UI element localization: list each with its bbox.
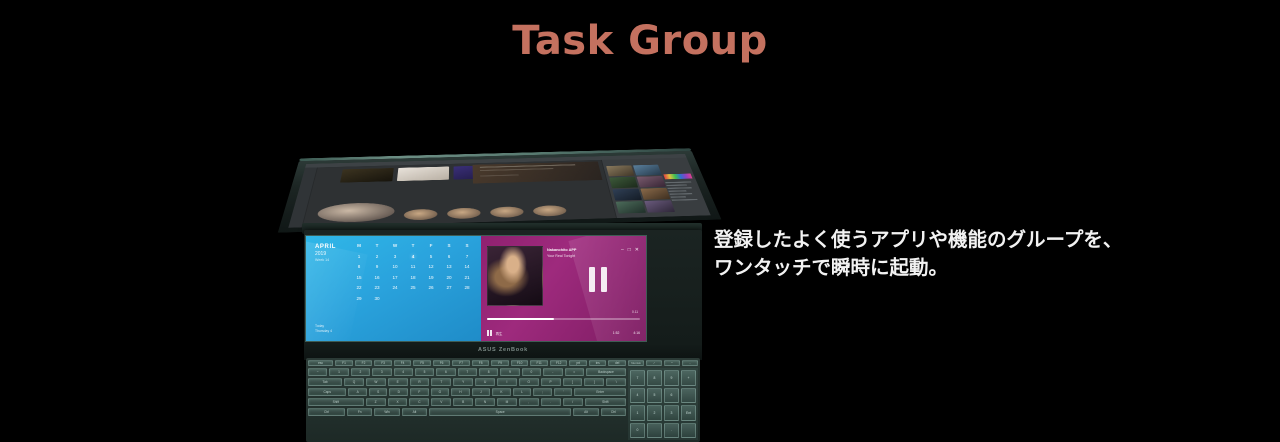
- thumbnail[interactable]: [612, 189, 642, 201]
- key[interactable]: -: [682, 360, 698, 366]
- maximize-icon[interactable]: □: [628, 248, 631, 253]
- key[interactable]: F: [410, 388, 429, 396]
- calendar-day[interactable]: 8: [350, 264, 368, 269]
- key[interactable]: F3: [374, 360, 392, 366]
- key-alt-right[interactable]: Alt: [573, 408, 598, 416]
- key[interactable]: NumLk: [628, 360, 644, 366]
- key[interactable]: F9: [491, 360, 509, 366]
- calendar-day[interactable]: 25: [404, 285, 422, 290]
- key[interactable]: ;: [533, 388, 552, 396]
- key[interactable]: X: [388, 398, 408, 406]
- numpad-key[interactable]: +: [681, 370, 696, 386]
- key[interactable]: 7: [458, 368, 477, 376]
- key[interactable]: 8: [479, 368, 498, 376]
- key[interactable]: F5: [413, 360, 431, 366]
- key[interactable]: H: [451, 388, 470, 396]
- hero-banner: [473, 161, 603, 183]
- feature-description: 登録したよく使うアプリや機能のグループを、 ワンタッチで瞬時に起動。: [714, 226, 1144, 281]
- calendar-weekday: T: [368, 243, 386, 248]
- media-card[interactable]: [340, 168, 394, 183]
- calendar-day[interactable]: 17: [386, 275, 404, 280]
- calendar-day[interactable]: 21: [458, 275, 476, 280]
- numpad-key[interactable]: 5: [647, 388, 662, 404]
- key[interactable]: [: [563, 378, 583, 386]
- key[interactable]: F10: [511, 360, 529, 366]
- key[interactable]: N: [475, 398, 495, 406]
- key-shift-left[interactable]: Shift: [308, 398, 364, 406]
- key[interactable]: ': [554, 388, 573, 396]
- laptop-device: APRIL 2019 Week 14 M T W T F S S 1 2 3 4…: [276, 104, 724, 438]
- calendar-day[interactable]: 3: [386, 254, 404, 259]
- key[interactable]: ins: [589, 360, 607, 366]
- calendar-month-label: APRIL: [315, 244, 336, 250]
- mini-pause-icon[interactable]: [487, 330, 492, 336]
- key[interactable]: G: [431, 388, 450, 396]
- calendar-day[interactable]: 13: [440, 264, 458, 269]
- key-ctrl-right[interactable]: Ctrl: [601, 408, 626, 416]
- key[interactable]: 9: [500, 368, 519, 376]
- brand-logo: ASUS ZenBook: [304, 347, 702, 353]
- key[interactable]: Q: [344, 378, 364, 386]
- calendar-day[interactable]: 5: [422, 254, 440, 259]
- key[interactable]: 0: [522, 368, 541, 376]
- keyboard-main-block[interactable]: esc F1 F2 F3 F4 F5 F6 F7 F8 F9 F10 F11 F…: [308, 360, 626, 440]
- calendar-weekday: S: [440, 243, 458, 248]
- dish-thumbnail[interactable]: [403, 209, 437, 221]
- key[interactable]: S: [369, 388, 388, 396]
- key[interactable]: 3: [372, 368, 391, 376]
- key[interactable]: =: [565, 368, 584, 376]
- dish-thumbnail[interactable]: [447, 208, 481, 220]
- numpad-key[interactable]: 7: [630, 370, 645, 386]
- numpad-key[interactable]: Ent: [681, 405, 696, 421]
- key[interactable]: 4: [394, 368, 413, 376]
- key[interactable]: L: [513, 388, 532, 396]
- calendar-day[interactable]: 20: [440, 275, 458, 280]
- calendar-day[interactable]: 26: [422, 285, 440, 290]
- music-player-app[interactable]: Nakanohito APP Your Real Tonight – □ ✕ 0…: [481, 236, 646, 341]
- page-title: Task Group: [0, 18, 1280, 64]
- laptop-lid: [278, 150, 722, 232]
- calendar-day[interactable]: 12: [422, 264, 440, 269]
- calendar-day[interactable]: 29: [350, 296, 368, 301]
- thumbnail-grid[interactable]: [606, 165, 675, 215]
- numpad-key[interactable]: [647, 423, 662, 439]
- calendar-weekday: S: [458, 243, 476, 248]
- key[interactable]: C: [409, 398, 429, 406]
- progress-bar[interactable]: [487, 318, 640, 320]
- key[interactable]: V: [431, 398, 451, 406]
- dish-thumbnail[interactable]: [533, 205, 568, 217]
- numpad-key[interactable]: 9: [664, 370, 679, 386]
- keyboard[interactable]: esc F1 F2 F3 F4 F5 F6 F7 F8 F9 F10 F11 F…: [306, 358, 700, 442]
- play-state-label: 再生: [496, 331, 503, 336]
- playback-control-bar[interactable]: 再生 1:52 4:16: [487, 330, 640, 336]
- minimize-icon[interactable]: –: [621, 248, 624, 253]
- key[interactable]: .: [541, 398, 561, 406]
- key-capslock[interactable]: Caps: [308, 388, 346, 396]
- thumbnail[interactable]: [633, 165, 662, 176]
- numpad-key[interactable]: [681, 388, 696, 404]
- pause-bar-right: [601, 267, 607, 292]
- thumbnail[interactable]: [644, 200, 675, 212]
- key[interactable]: F7: [452, 360, 470, 366]
- key[interactable]: F8: [472, 360, 490, 366]
- track-artist: Your Real Tonight: [547, 254, 575, 258]
- key[interactable]: J: [472, 388, 491, 396]
- key[interactable]: F11: [530, 360, 548, 366]
- key-space[interactable]: Space: [429, 408, 571, 416]
- progress-fill: [487, 318, 554, 320]
- thumbnail[interactable]: [606, 165, 634, 176]
- pause-bar-left: [589, 267, 595, 292]
- key[interactable]: esc: [308, 360, 333, 366]
- numpad[interactable]: 7 8 9 + 4 5 6 1 2 3 Ent 0 .: [628, 368, 698, 440]
- calendar-day[interactable]: 16: [368, 275, 386, 280]
- key[interactable]: F12: [550, 360, 568, 366]
- key[interactable]: R: [410, 378, 430, 386]
- editor-canvas[interactable]: [302, 160, 616, 227]
- calendar-weekday: M: [350, 243, 368, 248]
- key[interactable]: prt: [569, 360, 587, 366]
- key-win[interactable]: Win: [374, 408, 399, 416]
- key[interactable]: 2: [351, 368, 370, 376]
- numpad-key[interactable]: 0: [630, 423, 645, 439]
- numpad-key[interactable]: 3: [664, 405, 679, 421]
- calendar-app[interactable]: APRIL 2019 Week 14 M T W T F S S 1 2 3 4…: [306, 236, 481, 341]
- keyboard-row-shift[interactable]: Shift Z X C V B N M , . / Shift: [308, 398, 626, 406]
- calendar-day[interactable]: 1: [350, 254, 368, 259]
- key[interactable]: K: [492, 388, 511, 396]
- key[interactable]: /: [646, 360, 662, 366]
- calendar-day[interactable]: 19: [422, 275, 440, 280]
- thumbnail[interactable]: [637, 176, 666, 187]
- key[interactable]: ~: [308, 368, 327, 376]
- caption-line-1: 登録したよく使うアプリや機能のグループを、: [714, 226, 1144, 254]
- key[interactable]: M: [497, 398, 517, 406]
- calendar-day[interactable]: 27: [440, 285, 458, 290]
- window-controls[interactable]: – □ ✕: [621, 248, 639, 253]
- elapsed-time: 1:52: [613, 331, 620, 335]
- key-ctrl-left[interactable]: Ctrl: [308, 408, 345, 416]
- numpad-top-strip[interactable]: NumLk / * -: [628, 360, 698, 366]
- key[interactable]: ]: [584, 378, 604, 386]
- calendar-day-today[interactable]: 4: [404, 254, 422, 259]
- calendar-day[interactable]: 11: [404, 264, 422, 269]
- keyboard-row-qwerty[interactable]: Tab Q W E R T Y U I O P [ ] \: [308, 378, 626, 386]
- calendar-year-label: 2019: [315, 251, 326, 257]
- key[interactable]: del: [608, 360, 626, 366]
- key-backspace[interactable]: Backspace: [586, 368, 626, 376]
- key[interactable]: *: [664, 360, 680, 366]
- key[interactable]: P: [541, 378, 561, 386]
- color-swatch-picker[interactable]: [663, 174, 692, 180]
- calendar-weekday: F: [422, 243, 440, 248]
- thumbnail[interactable]: [640, 188, 670, 200]
- key[interactable]: 6: [436, 368, 455, 376]
- caption-line-2: ワンタッチで瞬時に起動。: [714, 254, 1144, 282]
- key[interactable]: F4: [394, 360, 412, 366]
- calendar-day[interactable]: 14: [458, 264, 476, 269]
- numpad-key[interactable]: 8: [647, 370, 662, 386]
- key-alt-left[interactable]: Alt: [402, 408, 427, 416]
- numpad-key[interactable]: 6: [664, 388, 679, 404]
- numpad-key[interactable]: 2: [647, 405, 662, 421]
- dish-thumbnail[interactable]: [490, 206, 524, 218]
- calendar-day[interactable]: 7: [458, 254, 476, 259]
- dish-thumbnail-large[interactable]: [316, 202, 396, 223]
- key[interactable]: W: [366, 378, 386, 386]
- calendar-day[interactable]: 10: [386, 264, 404, 269]
- keyboard-row-function[interactable]: esc F1 F2 F3 F4 F5 F6 F7 F8 F9 F10 F11 F…: [308, 360, 626, 366]
- key-shift-right[interactable]: Shift: [585, 398, 626, 406]
- key[interactable]: F2: [355, 360, 373, 366]
- key[interactable]: ,: [519, 398, 539, 406]
- calendar-day[interactable]: 18: [404, 275, 422, 280]
- main-display[interactable]: [288, 154, 710, 228]
- calendar-weekday: T: [404, 243, 422, 248]
- key[interactable]: E: [388, 378, 408, 386]
- keyboard-row-numbers[interactable]: ~ 1 2 3 4 5 6 7 8 9 0 - = Backspace: [308, 368, 626, 376]
- key[interactable]: 5: [415, 368, 434, 376]
- calendar-day[interactable]: 23: [368, 285, 386, 290]
- key-tab[interactable]: Tab: [308, 378, 342, 386]
- calendar-weekday: W: [386, 243, 404, 248]
- calendar-day[interactable]: 9: [368, 264, 386, 269]
- calendar-subtitle: Week 14: [315, 258, 329, 262]
- screenpad-plus-display[interactable]: APRIL 2019 Week 14 M T W T F S S 1 2 3 4…: [305, 235, 647, 342]
- key[interactable]: I: [497, 378, 517, 386]
- calendar-grid[interactable]: M T W T F S S 1 2 3 4 5 6 7 8 9 10 11 12…: [350, 243, 476, 301]
- key[interactable]: F1: [335, 360, 353, 366]
- calendar-day[interactable]: 30: [368, 296, 386, 301]
- numpad-key[interactable]: 4: [630, 388, 645, 404]
- calendar-day[interactable]: 6: [440, 254, 458, 259]
- key[interactable]: F6: [433, 360, 451, 366]
- key[interactable]: 1: [329, 368, 348, 376]
- thumbnail[interactable]: [616, 201, 646, 213]
- calendar-footer-line2: Thursday 4: [315, 329, 332, 334]
- track-title: Nakanohito APP: [547, 248, 576, 252]
- calendar-day[interactable]: 2: [368, 254, 386, 259]
- album-art: [487, 246, 543, 306]
- key[interactable]: U: [475, 378, 495, 386]
- key[interactable]: D: [389, 388, 408, 396]
- peak-label: 0.11: [632, 310, 638, 314]
- close-icon[interactable]: ✕: [635, 248, 639, 253]
- calendar-day[interactable]: 15: [350, 275, 368, 280]
- key-fn[interactable]: Fn: [347, 408, 372, 416]
- key[interactable]: O: [519, 378, 539, 386]
- key[interactable]: Y: [453, 378, 473, 386]
- calendar-day[interactable]: 28: [458, 285, 476, 290]
- numpad-key[interactable]: [681, 423, 696, 439]
- calendar-footer: Today Thursday 4: [315, 324, 332, 334]
- key[interactable]: \: [606, 378, 626, 386]
- calendar-day[interactable]: 22: [350, 285, 368, 290]
- key[interactable]: B: [453, 398, 473, 406]
- key[interactable]: T: [431, 378, 451, 386]
- media-card[interactable]: [397, 167, 449, 182]
- key[interactable]: /: [563, 398, 583, 406]
- pause-button[interactable]: [589, 267, 607, 292]
- keyboard-row-home[interactable]: Caps A S D F G H J K L ; ' Enter: [308, 388, 626, 396]
- key[interactable]: -: [543, 368, 562, 376]
- dish-thumbnail-row: [316, 197, 568, 223]
- key[interactable]: Z: [366, 398, 386, 406]
- numpad-key[interactable]: .: [664, 423, 679, 439]
- thumbnail[interactable]: [609, 177, 638, 188]
- total-duration: 4:16: [633, 331, 640, 335]
- calendar-footer-line1: Today: [315, 324, 332, 329]
- numpad-key[interactable]: 1: [630, 405, 645, 421]
- keyboard-row-bottom[interactable]: Ctrl Fn Win Alt Space Alt Ctrl: [308, 408, 626, 416]
- key[interactable]: A: [348, 388, 367, 396]
- key-enter[interactable]: Enter: [574, 388, 626, 396]
- calendar-day[interactable]: 24: [386, 285, 404, 290]
